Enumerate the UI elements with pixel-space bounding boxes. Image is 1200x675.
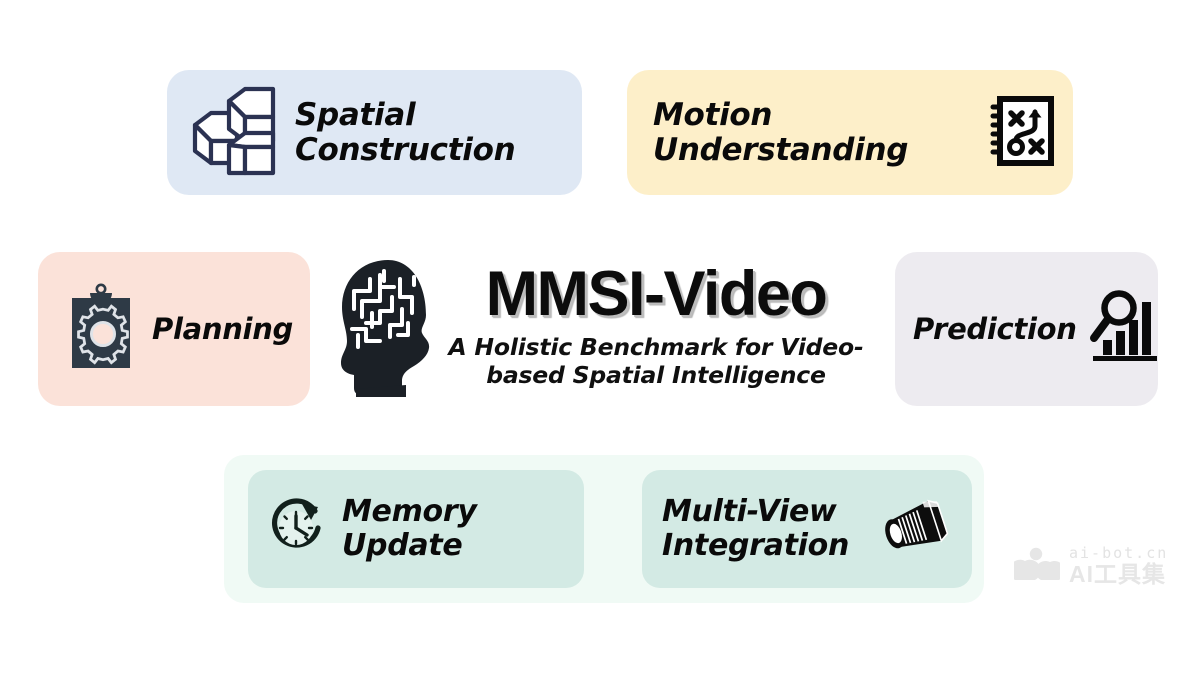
capability-card-multi-view-integration[interactable]: Multi-View Integration (642, 470, 972, 588)
capability-label-spatial-construction: Spatial Construction (295, 98, 558, 167)
clock-refresh-icon (266, 494, 330, 564)
capability-card-prediction[interactable]: Prediction (895, 252, 1158, 406)
capability-card-motion-understanding[interactable]: Motion Understanding (627, 70, 1073, 195)
camera-lens-icon (880, 492, 958, 566)
cubes-icon (189, 85, 281, 181)
watermark-domain: ai-bot.cn (1069, 546, 1168, 561)
brain-head-icon (336, 257, 440, 397)
hero-block: MMSI-Video A Holistic Benchmark for Vide… (336, 246, 866, 408)
page-subtitle: A Holistic Benchmark for Video-based Spa… (446, 333, 866, 390)
capability-label-planning: Planning (152, 313, 293, 345)
watermark-text: ai-bot.cn AI工具集 (1069, 546, 1168, 586)
watermark-name: AI工具集 (1069, 563, 1168, 586)
capability-card-memory-update[interactable]: Memory Update (248, 470, 584, 588)
ai-bot-logo-icon (1014, 547, 1060, 585)
poster-canvas: Spatial Construction Motion Understandin… (0, 0, 1200, 675)
capability-label-prediction: Prediction (913, 313, 1077, 345)
capability-label-motion-understanding: Motion Understanding (653, 98, 971, 167)
watermark: ai-bot.cn AI工具集 (1014, 546, 1168, 586)
page-title: MMSI-Video (486, 264, 827, 326)
magnifier-bar-chart-icon (1083, 288, 1163, 370)
playbook-strategy-icon (989, 95, 1055, 171)
capability-label-memory-update: Memory Update (342, 495, 568, 562)
capability-label-multi-view-integration: Multi-View Integration (662, 495, 849, 562)
hero-text-block: MMSI-Video A Holistic Benchmark for Vide… (446, 264, 866, 390)
capability-card-planning[interactable]: Planning (38, 252, 310, 406)
capability-card-spatial-construction[interactable]: Spatial Construction (167, 70, 582, 195)
clipboard-gear-icon (62, 281, 140, 377)
